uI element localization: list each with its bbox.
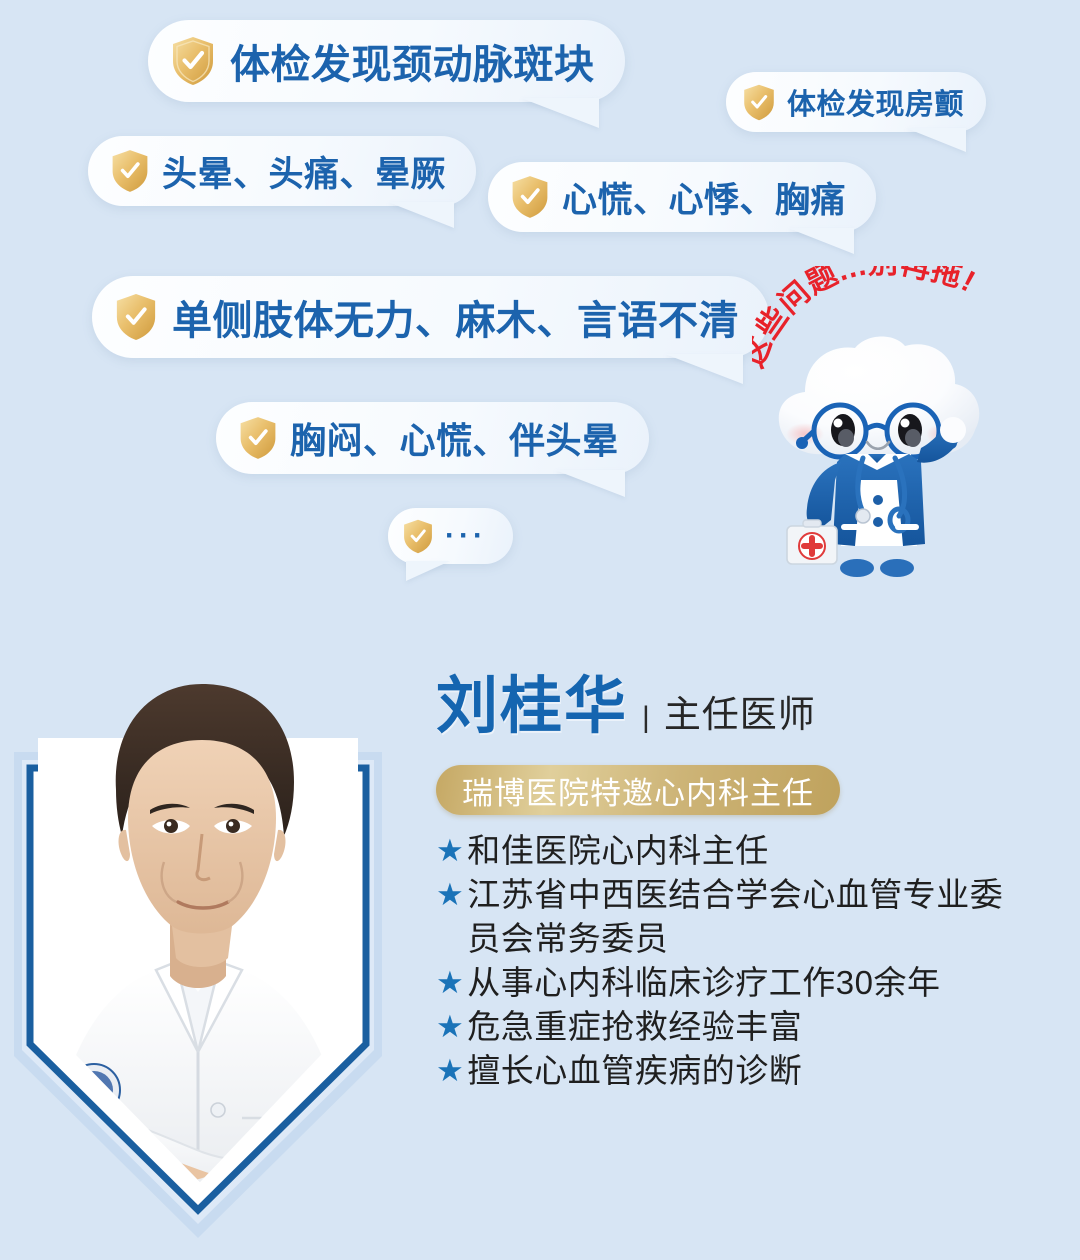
credential-item: ★ 和佳医院心内科主任 xyxy=(436,829,1036,873)
bubble-tail xyxy=(788,228,854,254)
gold-shield-check-icon xyxy=(510,174,550,220)
hospital-emblem-icon xyxy=(68,1064,120,1116)
star-icon: ★ xyxy=(436,829,464,873)
gold-shield-check-icon xyxy=(114,292,158,342)
credential-text: 危急重症抢救经验丰富 xyxy=(467,1005,1036,1049)
symptom-bubble-3[interactable]: 头晕、头痛、晕厥 xyxy=(88,136,476,206)
star-icon: ★ xyxy=(436,873,464,917)
gold-shield-check-icon xyxy=(742,83,776,122)
symptom-bubble-label: 头晕、头痛、晕厥 xyxy=(162,146,446,197)
bubble-tail xyxy=(521,98,599,128)
first-aid-kit-icon xyxy=(787,520,837,564)
credential-item: ★ 江苏省中西医结合学会心血管专业委员会常务委员 xyxy=(436,873,1036,961)
star-icon: ★ xyxy=(436,1049,464,1093)
bubble-tail xyxy=(406,561,450,581)
credential-item: ★ 危急重症抢救经验丰富 xyxy=(436,1005,1036,1049)
symptom-bubble-label: 单侧肢体无力、麻木、言语不清 xyxy=(172,288,739,346)
credential-text: 江苏省中西医结合学会心血管专业委员会常务委员 xyxy=(467,873,1036,961)
star-icon: ★ xyxy=(436,1005,464,1049)
credential-item: ★ 擅长心血管疾病的诊断 xyxy=(436,1049,1036,1093)
credential-text: 擅长心血管疾病的诊断 xyxy=(467,1049,1036,1093)
symptom-bubble-6[interactable]: 胸闷、心慌、伴头晕 xyxy=(216,402,649,474)
symptom-bubble-2[interactable]: 体检发现房颤 xyxy=(726,72,986,132)
star-icon: ★ xyxy=(436,961,464,1005)
gold-shield-check-icon xyxy=(402,518,434,555)
poster-canvas: 体检发现颈动脉斑块 体检发现房颤 头晕、头痛、晕厥 心慌、心悸、胸痛 单侧肢体无 xyxy=(0,0,1080,1260)
credential-item: ★ 从事心内科临床诊疗工作30余年 xyxy=(436,961,1036,1005)
symptom-bubble-label: 胸闷、心慌、伴头晕 xyxy=(290,412,619,464)
symptom-bubble-5[interactable]: 单侧肢体无力、麻木、言语不清 xyxy=(92,276,769,358)
doctor-portrait xyxy=(6,640,390,1260)
doctor-info: 刘桂华 | 主任医师 瑞博医院特邀心内科主任 ★ 和佳医院心内科主任 ★ 江苏省… xyxy=(436,655,1036,1093)
bubble-tail xyxy=(906,128,966,152)
symptom-bubble-label: 心慌、心悸、胸痛 xyxy=(562,172,846,223)
credentials-list: ★ 和佳医院心内科主任 ★ 江苏省中西医结合学会心血管专业委员会常务委员 ★ 从… xyxy=(436,829,1036,1093)
doctor-name: 刘桂华 xyxy=(436,655,628,745)
symptom-bubble-4[interactable]: 心慌、心悸、胸痛 xyxy=(488,162,876,232)
symptom-bubble-1[interactable]: 体检发现颈动脉斑块 xyxy=(148,20,625,102)
symptom-bubble-label: 体检发现颈动脉斑块 xyxy=(230,32,595,90)
symptom-bubble-label: 体检发现房颤 xyxy=(787,81,964,123)
doctor-name-row: 刘桂华 | 主任医师 xyxy=(436,655,1036,745)
symptom-bubble-label: ··· xyxy=(445,519,487,553)
credential-text: 和佳医院心内科主任 xyxy=(467,829,1036,873)
gold-shield-check-icon xyxy=(110,148,150,194)
bubble-tail xyxy=(665,354,743,384)
doctor-title: 主任医师 xyxy=(664,684,816,738)
gold-shield-check-icon xyxy=(238,415,278,461)
cloud-doctor-mascot xyxy=(745,330,1010,595)
gold-shield-check-icon xyxy=(170,35,216,87)
symptom-bubble-7[interactable]: ··· xyxy=(388,508,513,564)
credential-text: 从事心内科临床诊疗工作30余年 xyxy=(467,961,1036,1005)
bubble-tail xyxy=(388,202,454,228)
doctor-badge: 瑞博医院特邀心内科主任 xyxy=(436,765,840,815)
name-title-separator: | xyxy=(638,701,654,735)
bubble-tail xyxy=(555,470,625,497)
